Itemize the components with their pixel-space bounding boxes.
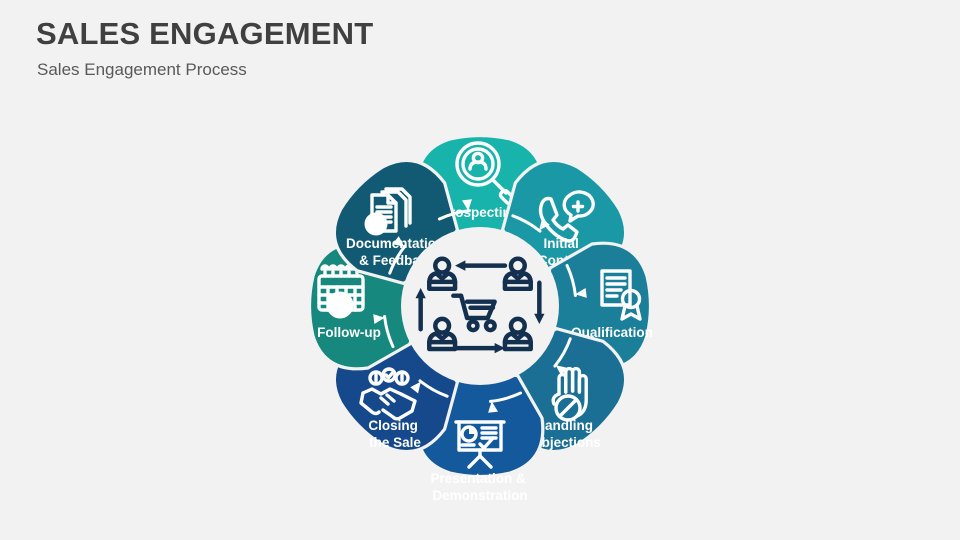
diagram-hub[interactable] (401, 227, 559, 385)
segment-label: Follow-up (317, 325, 381, 340)
sales-engagement-cycle-diagram: Prospecting Initial (240, 66, 720, 536)
page-title: SALES ENGAGEMENT (36, 16, 373, 52)
slide-canvas: SALES ENGAGEMENT Sales Engagement Proces… (0, 0, 960, 540)
page-subtitle: Sales Engagement Process (37, 60, 247, 80)
segment-label: Presentation & Demonstration (430, 471, 529, 503)
